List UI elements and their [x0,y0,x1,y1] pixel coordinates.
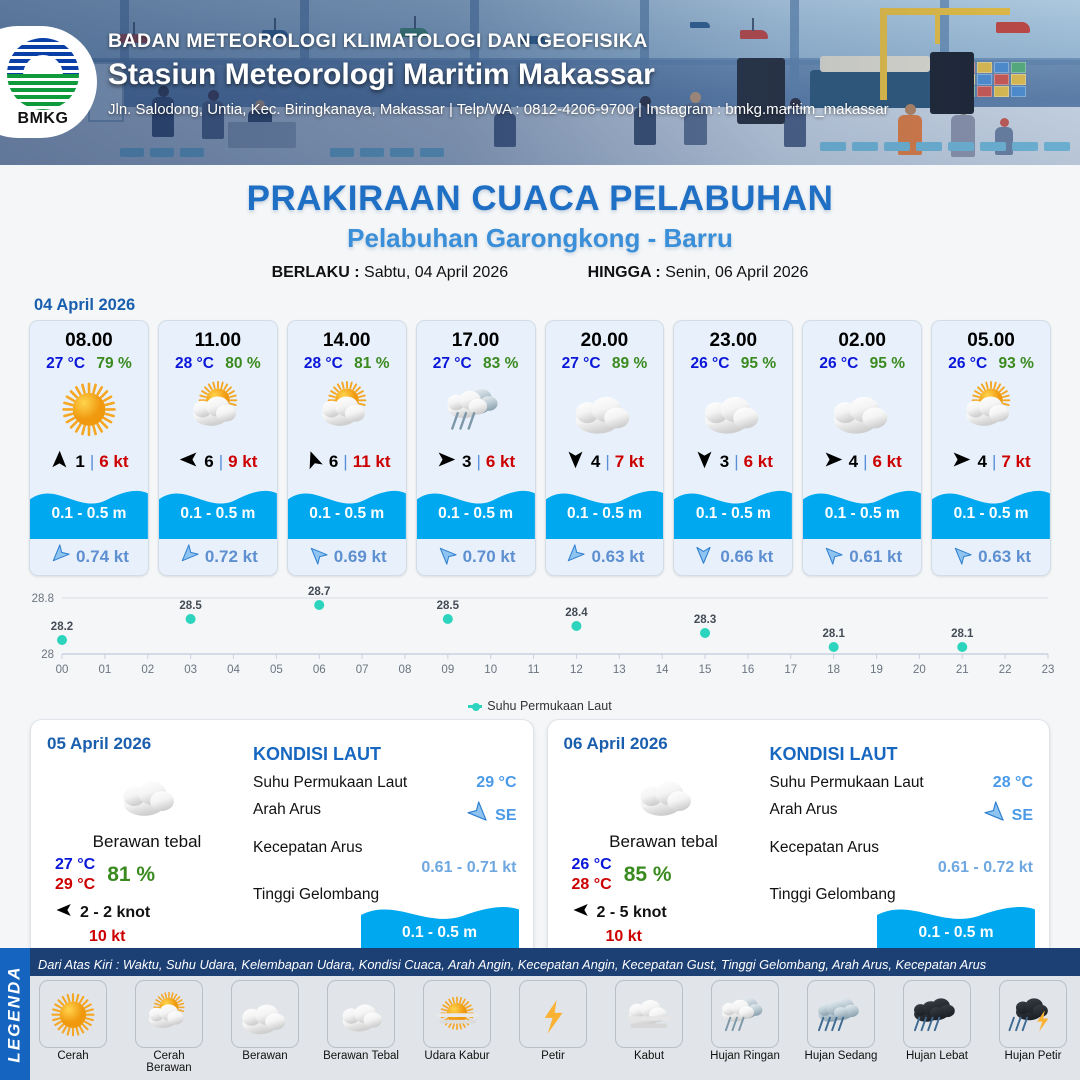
daily-humidity: 81 % [107,863,155,887]
svg-text:06: 06 [313,664,326,676]
wind-direction-value: 4 [849,452,858,472]
daily-temp-low: 26 °C [572,855,612,875]
legend-item-label: Hujan Sedang [802,1050,880,1062]
svg-text:28.4: 28.4 [565,607,588,619]
daily-condition: Berawan tebal [564,832,764,852]
daily-wind-range: 2 - 2 knot [80,904,150,922]
page-header: BMKG BADAN METEOROLOGI KLIMATOLOGI DAN G… [0,0,1080,165]
weather-icon-kabut [615,980,683,1048]
legend-side-tab: LEGENDA [0,948,30,1080]
daily-humidity: 85 % [624,863,672,887]
card-temperature: 28 °C [304,355,343,372]
weather-icon-cerah [30,373,148,445]
svg-text:28.7: 28.7 [308,586,330,598]
card-temperature: 28 °C [175,355,214,372]
wind-direction-arrow-icon [565,449,586,475]
current-direction-arrow-icon [307,544,328,570]
wind-direction-arrow-icon [951,449,972,475]
agency-name: BADAN METEOROLOGI KLIMATOLOGI DAN GEOFIS… [108,30,1058,53]
legend-item-label: Hujan Petir [994,1050,1072,1062]
separator: | [476,452,480,472]
svg-text:00: 00 [56,664,69,676]
wind-direction-value: 1 [75,452,84,472]
bmkg-logo: BMKG [0,26,97,138]
legend-item-label: Petir [514,1050,592,1062]
wave-height-value: 0.1 - 0.5 m [803,505,921,523]
wave-height-band: 0.1 - 0.5 m [159,479,277,539]
wind-direction-arrow-icon [55,901,73,924]
current-direction-arrow-icon [467,801,491,830]
wind-direction-arrow-icon [303,449,324,475]
legend-item: Hujan Sedang [802,980,880,1074]
svg-text:28.5: 28.5 [437,600,460,612]
page-title: PRAKIRAAN CUACA PELABUHAN [0,179,1080,219]
svg-text:07: 07 [356,664,369,676]
weather-icon-berawan [231,980,299,1048]
legend-item: Petir [514,980,592,1074]
current-speed-value: 0.66 kt [720,547,773,567]
legend-item-label: Berawan Tebal [322,1050,400,1062]
svg-text:02: 02 [141,664,154,676]
daily-temp-high: 29 °C [55,875,95,895]
legend-item-label: Kabut [610,1050,688,1062]
current-direction-label: Arah Arus [770,801,984,819]
legend-item: Udara Kabur [418,980,496,1074]
card-time: 14.00 [288,321,406,352]
chart-legend-label: Suhu Permukaan Laut [487,699,611,713]
wind-direction-arrow-icon [823,449,844,475]
station-name: Stasiun Meteorologi Maritim Makassar [108,58,1058,92]
card-time: 11.00 [159,321,277,352]
weather-icon-hujan-lebat [903,980,971,1048]
hourly-card: 14.00 28 °C 81 % 6 | 11 kt 0.1 - 0.5 m [287,320,407,576]
separator: | [90,452,94,472]
weather-icon-berawan-tebal [327,980,395,1048]
sea-condition-title: KONDISI LAUT [253,744,517,765]
weather-icon-hujan-ringan [711,980,779,1048]
card-temperature: 27 °C [562,355,601,372]
legend-item: Kabut [610,980,688,1074]
weather-icon-udara-kabur [423,980,491,1048]
current-speed-value: 0.63 kt [978,547,1031,567]
legend-item-label: Cerah Berawan [130,1050,208,1074]
wind-direction-arrow-icon [436,449,457,475]
svg-text:10: 10 [484,664,497,676]
validity-line: BERLAKU : Sabtu, 04 April 2026 HINGGA : … [0,264,1080,282]
wave-height-value: 0.1 - 0.5 m [159,505,277,523]
wind-speed-value: 9 kt [228,452,257,472]
card-humidity: 93 % [999,355,1034,372]
legend-note: Dari Atas Kiri : Waktu, Suhu Udara, Kele… [38,957,1072,972]
weather-icon-cerah-berawan [932,373,1050,445]
wind-speed-value: 11 kt [353,452,391,472]
legend-item: Cerah [34,980,112,1074]
wind-direction-value: 6 [204,452,213,472]
svg-text:18: 18 [827,664,840,676]
wave-height-band: 0.1 - 0.5 m [361,896,519,952]
svg-text:28.3: 28.3 [694,614,716,626]
wind-direction-value: 3 [462,452,471,472]
svg-text:12: 12 [570,664,583,676]
legend-item-label: Hujan Lebat [898,1050,976,1062]
svg-text:28: 28 [41,649,54,661]
svg-text:21: 21 [956,664,969,676]
daily-temp-high: 28 °C [572,875,612,895]
legend-item-label: Berawan [226,1050,304,1062]
weather-icon-cerah [39,980,107,1048]
legend-item: Cerah Berawan [130,980,208,1074]
sst-chart: 28.8280001020304050607080910111213141516… [0,584,1080,709]
current-speed-value: 0.74 kt [76,547,129,567]
card-humidity: 80 % [225,355,260,372]
wave-height-value: 0.1 - 0.5 m [417,505,535,523]
current-speed-label: Kecepatan Arus [253,839,517,857]
current-direction-arrow-icon [984,801,1008,830]
wave-height-band: 0.1 - 0.5 m [803,479,921,539]
hourly-card: 11.00 28 °C 80 % 6 | 9 kt 0.1 - 0.5 m [158,320,278,576]
wave-height-value: 0.1 - 0.5 m [361,924,519,942]
svg-text:28.1: 28.1 [951,628,974,640]
card-temperature: 27 °C [433,355,472,372]
legend-item: Berawan Tebal [322,980,400,1074]
wave-height-band: 0.1 - 0.5 m [288,479,406,539]
wave-height-band: 0.1 - 0.5 m [417,479,535,539]
wind-direction-arrow-icon [178,449,199,475]
daily-panel: 05 April 2026 Berawan tebal 27 °C 29 °C … [30,719,534,967]
wave-height-value: 0.1 - 0.5 m [674,505,792,523]
hourly-card: 08.00 27 °C 79 % 1 | 6 kt 0.1 - 0.5 m 0.… [29,320,149,576]
card-temperature: 26 °C [948,355,987,372]
hourly-card: 17.00 27 °C 83 % 3 | 6 kt [416,320,536,576]
current-speed-value: 0.61 kt [849,547,902,567]
wind-direction-arrow-icon [694,449,715,475]
card-time: 20.00 [546,321,664,352]
card-temperature: 26 °C [819,355,858,372]
daily-forecast-row: 05 April 2026 Berawan tebal 27 °C 29 °C … [0,719,1080,967]
current-direction-value: SE [495,807,516,825]
wind-direction-value: 3 [720,452,729,472]
current-speed-value: 0.72 kt [205,547,258,567]
legend-item: Hujan Ringan [706,980,784,1074]
weather-icon-cerah-berawan [288,373,406,445]
separator: | [605,452,609,472]
hourly-card: 20.00 27 °C 89 % 4 | 7 kt 0.1 - 0.5 m [545,320,665,576]
wave-height-band: 0.1 - 0.5 m [674,479,792,539]
svg-text:17: 17 [784,664,797,676]
hingga-label: HINGGA : [588,264,661,281]
legend-item: Hujan Lebat [898,980,976,1074]
weather-icon-hujan-sedang [807,980,875,1048]
daily-gust: 10 kt [47,928,247,946]
daily-wind-range: 2 - 5 knot [597,904,667,922]
wave-height-value: 0.1 - 0.5 m [30,505,148,523]
current-speed-value: 0.63 kt [591,547,644,567]
legend-item-label: Udara Kabur [418,1050,496,1062]
wave-height-band: 0.1 - 0.5 m [546,479,664,539]
weather-icon-hujan-petir [999,980,1067,1048]
card-humidity: 81 % [354,355,389,372]
wind-direction-arrow-icon [572,901,590,924]
bmkg-logo-text: BMKG [3,110,83,128]
current-direction-label: Arah Arus [253,801,467,819]
separator: | [734,452,738,472]
card-time: 05.00 [932,321,1050,352]
separator: | [992,452,996,472]
wave-height-band: 0.1 - 0.5 m [877,896,1035,952]
svg-text:09: 09 [441,664,454,676]
current-direction-arrow-icon [564,544,585,570]
hingga-value: Senin, 06 April 2026 [665,264,808,281]
weather-icon-cerah-berawan [159,373,277,445]
card-humidity: 83 % [483,355,518,372]
svg-text:28.8: 28.8 [32,593,54,605]
legend-item-label: Cerah [34,1050,112,1062]
legend-side-label: LEGENDA [5,965,25,1062]
current-direction-arrow-icon [951,544,972,570]
legend-item-label: Hujan Ringan [706,1050,784,1062]
daily-gust: 10 kt [564,928,764,946]
svg-text:28.2: 28.2 [51,621,73,633]
chart-legend: Suhu Permukaan Laut [0,699,1080,713]
sst-value: 29 °C [476,774,516,792]
hourly-card: 02.00 26 °C 95 % 4 | 6 kt 0.1 - 0.5 m [802,320,922,576]
daily-date: 05 April 2026 [47,734,247,754]
current-direction-value: SE [1012,807,1033,825]
separator: | [863,452,867,472]
legend-item: Berawan [226,980,304,1074]
svg-text:08: 08 [399,664,412,676]
current-direction-arrow-icon [822,544,843,570]
wind-speed-value: 6 kt [99,452,128,472]
berlaku-value: Sabtu, 04 April 2026 [364,264,508,281]
card-temperature: 26 °C [691,355,730,372]
weather-icon-berawan-tebal [47,758,247,828]
svg-text:01: 01 [98,664,111,676]
legend-section: LEGENDA Dari Atas Kiri : Waktu, Suhu Uda… [0,948,1080,1080]
weather-icon-berawan-tebal [564,758,764,828]
weather-icon-berawan [803,373,921,445]
contact-line: Jln. Salodong, Untia, Kec. Biringkanaya,… [108,101,1058,118]
wind-speed-value: 6 kt [872,452,901,472]
wind-direction-value: 4 [977,452,986,472]
title-block: PRAKIRAAN CUACA PELABUHAN Pelabuhan Garo… [0,179,1080,282]
hourly-card: 23.00 26 °C 95 % 3 | 6 kt 0.1 - 0.5 m [673,320,793,576]
separator: | [343,452,347,472]
current-speed-value: 0.61 - 0.71 kt [253,859,517,877]
wave-height-value: 0.1 - 0.5 m [932,505,1050,523]
svg-text:28.1: 28.1 [822,628,845,640]
current-direction-arrow-icon [693,544,714,570]
current-speed-value: 0.61 - 0.72 kt [770,859,1034,877]
svg-text:16: 16 [742,664,755,676]
svg-text:03: 03 [184,664,197,676]
hourly-card: 05.00 26 °C 93 % 4 | 7 kt 0.1 - 0.5 m [931,320,1051,576]
sst-value: 28 °C [993,774,1033,792]
daily-temp-low: 27 °C [55,855,95,875]
svg-text:15: 15 [699,664,712,676]
weather-icon-cerah-berawan [135,980,203,1048]
legend-item: Hujan Petir [994,980,1072,1074]
separator: | [219,452,223,472]
weather-icon-berawan [674,373,792,445]
sea-condition-title: KONDISI LAUT [770,744,1034,765]
wind-direction-value: 4 [591,452,600,472]
svg-text:20: 20 [913,664,926,676]
daily-panel: 06 April 2026 Berawan tebal 26 °C 28 °C … [547,719,1051,967]
daily-condition: Berawan tebal [47,832,247,852]
wind-direction-value: 6 [329,452,338,472]
weather-icon-petir [519,980,587,1048]
weather-icon-berawan [546,373,664,445]
svg-text:05: 05 [270,664,283,676]
card-humidity: 79 % [96,355,131,372]
wave-height-value: 0.1 - 0.5 m [546,505,664,523]
wind-speed-value: 6 kt [744,452,773,472]
card-temperature: 27 °C [46,355,85,372]
wind-speed-value: 6 kt [486,452,515,472]
current-direction-arrow-icon [178,544,199,570]
sst-label: Suhu Permukaan Laut [770,774,993,792]
current-speed-label: Kecepatan Arus [770,839,1034,857]
current-direction-arrow-icon [49,544,70,570]
current-direction-arrow-icon [436,544,457,570]
svg-text:22: 22 [999,664,1012,676]
weather-icon-hujan-ringan [417,373,535,445]
card-humidity: 89 % [612,355,647,372]
wave-height-value: 0.1 - 0.5 m [877,924,1035,942]
card-time: 17.00 [417,321,535,352]
page-subtitle: Pelabuhan Garongkong - Barru [0,223,1080,254]
hourly-date-label: 04 April 2026 [34,296,1080,315]
wind-speed-value: 7 kt [615,452,644,472]
sst-label: Suhu Permukaan Laut [253,774,476,792]
wind-direction-arrow-icon [49,449,70,475]
svg-text:13: 13 [613,664,626,676]
svg-text:04: 04 [227,664,240,676]
wave-height-band: 0.1 - 0.5 m [30,479,148,539]
wave-height-value: 0.1 - 0.5 m [288,505,406,523]
hourly-forecast-row: 08.00 27 °C 79 % 1 | 6 kt 0.1 - 0.5 m 0.… [0,320,1080,576]
daily-date: 06 April 2026 [564,734,764,754]
svg-text:23: 23 [1042,664,1055,676]
wave-height-band: 0.1 - 0.5 m [932,479,1050,539]
svg-text:28.5: 28.5 [179,600,202,612]
current-speed-value: 0.70 kt [463,547,516,567]
svg-text:11: 11 [528,664,540,676]
card-time: 02.00 [803,321,921,352]
card-time: 08.00 [30,321,148,352]
svg-text:19: 19 [870,664,883,676]
card-humidity: 95 % [741,355,776,372]
chart-legend-marker [468,705,482,708]
berlaku-label: BERLAKU : [272,264,360,281]
legend-items: Cerah Cerah Berawan Berawan [34,980,1072,1074]
current-speed-value: 0.69 kt [334,547,387,567]
card-humidity: 95 % [870,355,905,372]
card-time: 23.00 [674,321,792,352]
svg-text:14: 14 [656,664,669,676]
wind-speed-value: 7 kt [1001,452,1030,472]
